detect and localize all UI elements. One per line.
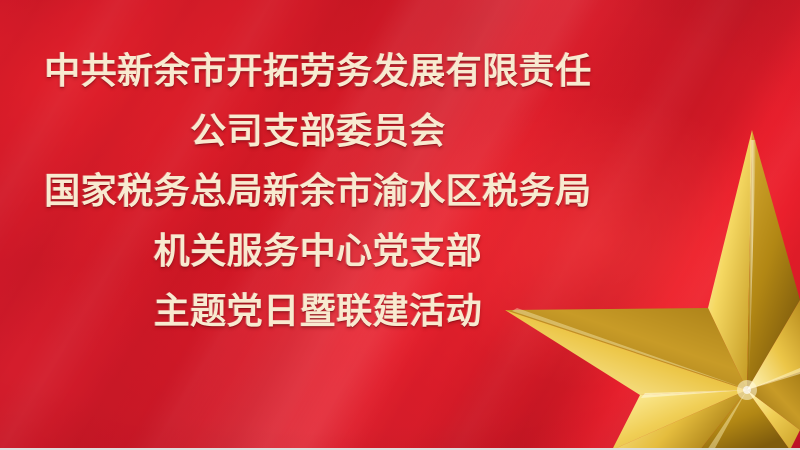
headline-line-5: 主题党日暨联建活动: [0, 282, 636, 342]
headline-line-1: 中共新余市开拓劳务发展有限责任: [0, 42, 636, 102]
headline-line-2: 公司支部委员会: [0, 102, 636, 162]
event-banner: 中共新余市开拓劳务发展有限责任 公司支部委员会 国家税务总局新余市渝水区税务局 …: [0, 0, 800, 450]
headline-line-3: 国家税务总局新余市渝水区税务局: [0, 162, 636, 222]
headline-line-4: 机关服务中心党支部: [0, 222, 636, 282]
banner-headline: 中共新余市开拓劳务发展有限责任 公司支部委员会 国家税务总局新余市渝水区税务局 …: [0, 42, 636, 342]
